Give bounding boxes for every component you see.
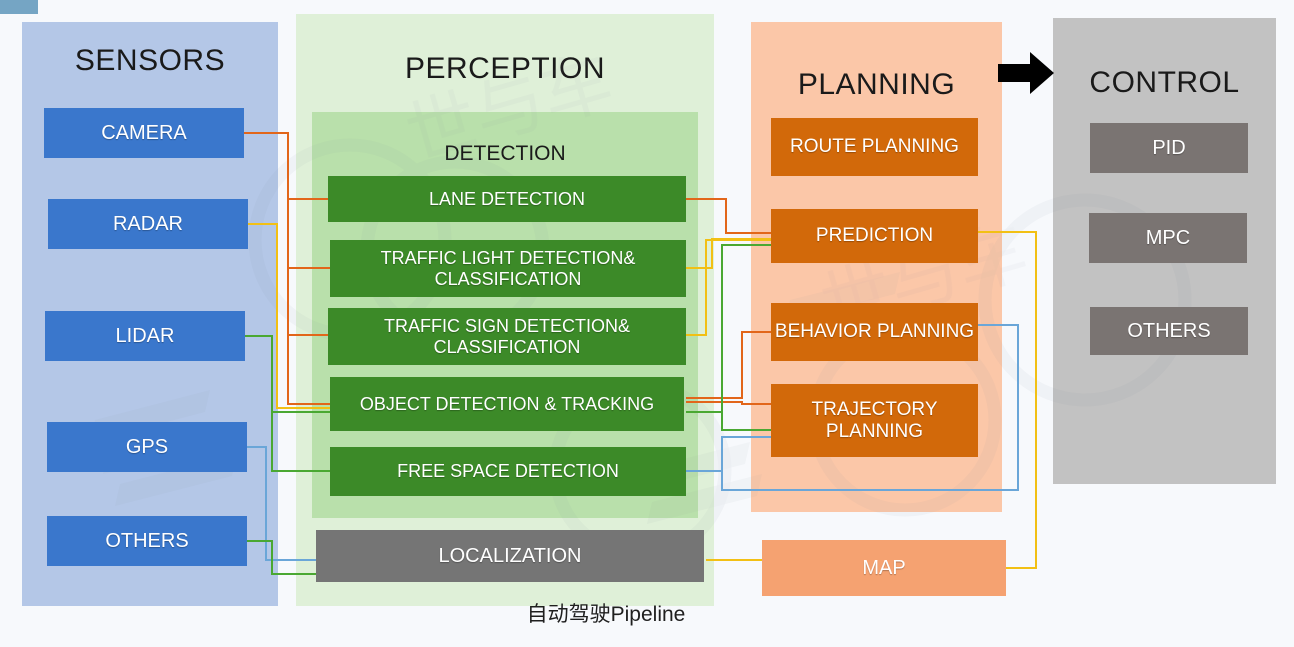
control-node-others[interactable]: OTHERS <box>1090 307 1248 355</box>
detection-group-label: DETECTION <box>312 142 698 166</box>
control-column-title: CONTROL <box>1053 66 1276 100</box>
perception-node-free-space-label: FREE SPACE DETECTION <box>397 461 619 481</box>
perception-column-title: PERCEPTION <box>296 52 714 86</box>
perception-node-localization-label: LOCALIZATION <box>439 545 582 567</box>
control-node-pid-label: PID <box>1152 137 1185 159</box>
planning-node-route-planning-label: ROUTE PLANNING <box>790 136 959 157</box>
sensor-node-lidar[interactable]: LIDAR <box>45 311 245 361</box>
perception-node-traffic-sign[interactable]: TRAFFIC SIGN DETECTION& CLASSIFICATION <box>328 308 686 365</box>
diagram-canvas: 世与车 世与车 SENSORS PERCEPTION DETECTION PLA… <box>0 0 1294 642</box>
perception-node-localization[interactable]: LOCALIZATION <box>316 530 704 582</box>
planning-node-map-label: MAP <box>862 557 905 579</box>
sensor-node-camera-label: CAMERA <box>101 122 187 144</box>
planning-column-title: PLANNING <box>751 68 1002 102</box>
sensor-node-gps[interactable]: GPS <box>47 422 247 472</box>
perception-node-traffic-light-label: TRAFFIC LIGHT DETECTION& CLASSIFICATION <box>330 248 686 288</box>
control-node-others-label: OTHERS <box>1127 320 1210 342</box>
diagram-caption: 自动驾驶Pipeline <box>396 598 816 628</box>
planning-node-map[interactable]: MAP <box>762 540 1006 596</box>
sensor-node-gps-label: GPS <box>126 436 168 458</box>
perception-node-free-space[interactable]: FREE SPACE DETECTION <box>330 447 686 496</box>
perception-node-lane-detection-label: LANE DETECTION <box>429 189 585 209</box>
perception-node-traffic-sign-label: TRAFFIC SIGN DETECTION& CLASSIFICATION <box>328 316 686 356</box>
control-node-pid[interactable]: PID <box>1090 123 1248 173</box>
sensor-node-radar[interactable]: RADAR <box>48 199 248 249</box>
planning-node-prediction-label: PREDICTION <box>816 225 933 246</box>
planning-node-trajectory-planning[interactable]: TRAJECTORY PLANNING <box>771 384 978 457</box>
sensor-node-others-label: OTHERS <box>105 530 188 552</box>
control-node-mpc-label: MPC <box>1146 227 1190 249</box>
perception-node-traffic-light[interactable]: TRAFFIC LIGHT DETECTION& CLASSIFICATION <box>330 240 686 297</box>
perception-node-object-detection[interactable]: OBJECT DETECTION & TRACKING <box>330 377 684 431</box>
sensors-column-title: SENSORS <box>22 44 278 78</box>
planning-node-route-planning[interactable]: ROUTE PLANNING <box>771 118 978 176</box>
planning-node-behavior-planning[interactable]: BEHAVIOR PLANNING <box>771 303 978 361</box>
perception-node-object-detection-label: OBJECT DETECTION & TRACKING <box>360 394 654 414</box>
sensor-node-radar-label: RADAR <box>113 213 183 235</box>
control-node-mpc[interactable]: MPC <box>1089 213 1247 263</box>
sensor-node-lidar-label: LIDAR <box>116 325 175 347</box>
planning-to-control-arrow <box>998 52 1054 94</box>
corner-tab <box>0 0 38 14</box>
perception-node-lane-detection[interactable]: LANE DETECTION <box>328 176 686 222</box>
planning-node-prediction[interactable]: PREDICTION <box>771 209 978 263</box>
sensor-node-others[interactable]: OTHERS <box>47 516 247 566</box>
planning-node-behavior-planning-label: BEHAVIOR PLANNING <box>775 321 974 342</box>
sensor-node-camera[interactable]: CAMERA <box>44 108 244 158</box>
planning-node-trajectory-planning-label: TRAJECTORY PLANNING <box>771 399 978 442</box>
